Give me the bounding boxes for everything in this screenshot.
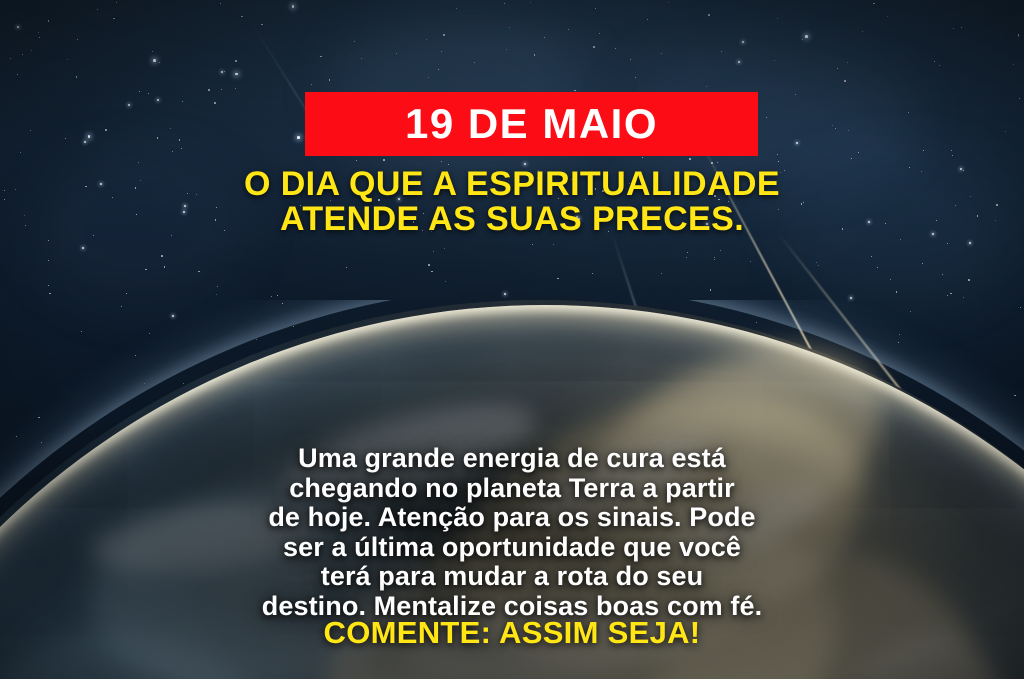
body-line-4: ser a última oportunidade que você [0, 533, 1024, 563]
body-line-5: terá para mudar a rota do seu [0, 562, 1024, 592]
bottom-white-bar [0, 679, 1024, 685]
body-line-3: de hoje. Atenção para os sinais. Pode [0, 503, 1024, 533]
poster-image: 19 DE MAIO O DIA QUE A ESPIRITUALIDADE A… [0, 0, 1024, 685]
body-copy: Uma grande energia de cura está chegando… [0, 444, 1024, 621]
date-banner: 19 DE MAIO [305, 92, 758, 156]
body-line-1: Uma grande energia de cura está [0, 444, 1024, 474]
date-banner-text: 19 DE MAIO [405, 103, 658, 145]
body-line-2: chegando no planeta Terra a partir [0, 474, 1024, 504]
call-to-action-text: COMENTE: ASSIM SEJA! [0, 616, 1024, 650]
poster-content: 19 DE MAIO O DIA QUE A ESPIRITUALIDADE A… [0, 0, 1024, 685]
headline: O DIA QUE A ESPIRITUALIDADE ATENDE AS SU… [0, 167, 1024, 237]
headline-line-2: ATENDE AS SUAS PRECES. [0, 202, 1024, 237]
headline-line-1: O DIA QUE A ESPIRITUALIDADE [0, 167, 1024, 202]
